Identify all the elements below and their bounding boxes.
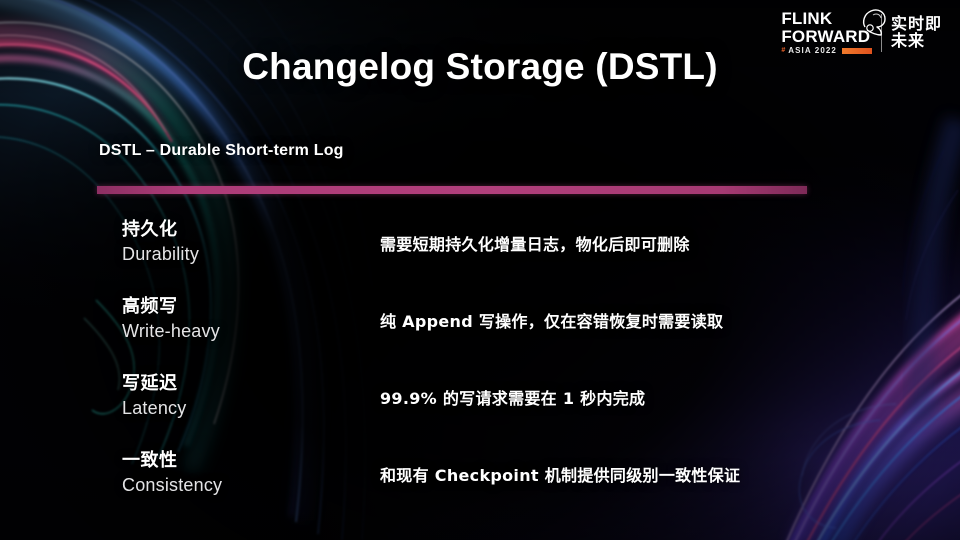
list-item: 一致性 Consistency 和现有 Checkpoint 机制提供同级别一致… xyxy=(0,449,960,526)
term-english: Write-heavy xyxy=(122,319,362,344)
list-item: 写延迟 Latency 99.9% 的写请求需要在 1 秒内完成 xyxy=(0,372,960,449)
logo-event-name: ASIA 2022 xyxy=(788,47,837,55)
term-chinese: 写延迟 xyxy=(122,372,362,396)
logo-wordmark-group: FLINK FORWARD # ASIA 2022 xyxy=(781,10,872,55)
logo-cn-line2: 未来 xyxy=(891,33,942,49)
term-description: 需要短期持久化增量日志，物化后即可删除 xyxy=(380,234,690,256)
logo-chinese-tagline: 实时即 未来 xyxy=(891,16,942,49)
term-english: Durability xyxy=(122,242,362,267)
list-item: 高频写 Write-heavy 纯 Append 写操作，仅在容错恢复时需要读取 xyxy=(0,295,960,372)
term-block: 一致性 Consistency xyxy=(122,449,362,498)
logo-accent-bar xyxy=(842,48,872,54)
term-block: 持久化 Durability xyxy=(122,218,362,267)
list-item: 持久化 Durability 需要短期持久化增量日志，物化后即可删除 xyxy=(0,218,960,295)
term-block: 高频写 Write-heavy xyxy=(122,295,362,344)
term-english: Latency xyxy=(122,396,362,421)
term-description: 99.9% 的写请求需要在 1 秒内完成 xyxy=(380,388,645,410)
flink-forward-logo: FLINK FORWARD # ASIA 2022 实时即 未来 xyxy=(781,10,942,55)
term-chinese: 持久化 xyxy=(122,218,362,242)
term-english: Consistency xyxy=(122,473,362,498)
term-description: 和现有 Checkpoint 机制提供同级别一致性保证 xyxy=(380,465,740,487)
hash-icon: # xyxy=(781,47,785,55)
term-block: 写延迟 Latency xyxy=(122,372,362,421)
logo-wordmark: FLINK FORWARD xyxy=(781,10,870,45)
presentation-slide: FLINK FORWARD # ASIA 2022 实时即 未来 Changel… xyxy=(0,0,960,540)
term-chinese: 高频写 xyxy=(122,295,362,319)
requirements-list: 持久化 Durability 需要短期持久化增量日志，物化后即可删除 高频写 W… xyxy=(0,218,960,526)
term-chinese: 一致性 xyxy=(122,449,362,473)
section-subtitle: DSTL – Durable Short-term Log xyxy=(99,142,344,160)
squirrel-icon xyxy=(856,6,890,36)
accent-divider xyxy=(97,186,807,194)
logo-event-line: # ASIA 2022 xyxy=(781,47,872,55)
term-description: 纯 Append 写操作，仅在容错恢复时需要读取 xyxy=(380,311,723,333)
